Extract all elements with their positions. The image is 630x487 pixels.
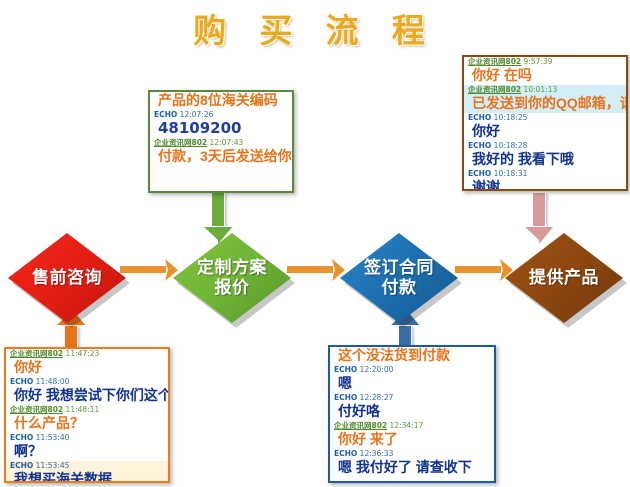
chat-message-sender: ECHO [468, 113, 491, 122]
chat-message: 产品的8位海关编码 [150, 92, 292, 110]
chat-message-sender: ECHO [10, 377, 33, 386]
chat-message-time: 12:07:26 [180, 110, 214, 119]
arrow-down-green-stem [211, 192, 225, 227]
chat-message-text: 已发送到你的QQ邮箱，请查收 [466, 95, 624, 112]
step-sales-consult[interactable]: 售前咨询 [8, 233, 126, 323]
chat-message: 这个没法货到付款 [330, 347, 494, 365]
chat-message-time: 12:34:17 [390, 421, 424, 430]
chat-message-time: 12:36:33 [360, 449, 394, 458]
chat-message-text: 啊？ [8, 443, 166, 460]
chat-box-quote[interactable]: 产品的8位海关编码 ECHO 12:07:26 48109200 企业资讯网80… [148, 90, 294, 193]
chat-message-time: 12:20:00 [360, 365, 394, 374]
chat-message: ECHO 12:28:27 付好咯 [330, 393, 494, 421]
connector-arrow-3-bar [455, 266, 501, 273]
connector-arrow-2 [287, 259, 345, 281]
page-title: 购 买 流 程 [0, 4, 630, 52]
chat-message: ECHO 10:18:28 我好的 我看下哦 [464, 141, 626, 169]
step-deliver-label: 提供产品 [505, 233, 623, 323]
chat-message: 企业资讯网802 12:07:43 付款，3天后发送给你 [150, 138, 292, 166]
step-contract-label-line2: 付款 [364, 278, 434, 298]
chat-message-text: 付款，3天后发送给你 [152, 148, 290, 165]
chat-message-sender: 企业资讯网802 [334, 421, 387, 430]
chat-message: 企业资讯网802 9:57:39 你好 在吗 [464, 57, 626, 85]
chat-message: 企业资讯网802 11:47:23 你好 [6, 349, 168, 377]
chat-message-text: 我好的 我看下哦 [466, 151, 624, 168]
step-quote-label-line2: 报价 [197, 278, 267, 298]
chat-message-time: 11:53:40 [36, 433, 70, 442]
chat-message-sender: ECHO [468, 141, 491, 150]
chat-message-text: 我想买海关数据 [8, 471, 166, 483]
chat-message-time: 11:48:00 [36, 377, 70, 386]
chat-message-sender: ECHO [334, 393, 357, 402]
step-contract-label-line1: 签订合同 [364, 258, 434, 278]
chat-message-meta: ECHO 11:48:00 [8, 377, 166, 387]
chat-message-text: 嗯 [332, 375, 492, 392]
chat-message-sender: ECHO [10, 433, 33, 442]
chat-message-text: 产品的8位海关编码 [152, 92, 290, 109]
chat-message-time: 10:01:13 [524, 85, 558, 94]
chat-message-sender: ECHO [154, 110, 177, 119]
chat-message-text: 你好 我想尝试下你们这个产品 [8, 387, 166, 404]
chat-message-text: 你好 来了 [332, 431, 492, 448]
step-contract-label: 签订合同 付款 [340, 233, 458, 323]
chat-message-time: 11:48:11 [66, 405, 100, 414]
chat-message-text: 付好咯 [332, 403, 492, 420]
chat-message-time: 11:53:45 [36, 461, 70, 470]
chat-message-text: 谢谢 [466, 179, 624, 191]
chat-message-meta: 企业资讯网802 11:48:11 [8, 405, 166, 415]
chat-message-text: 什么产品？ [8, 415, 166, 432]
chat-message-sender: ECHO [334, 365, 357, 374]
chat-message: ECHO 12:20:00 嗯 [330, 365, 494, 393]
step-quote-label-line1: 定制方案 [197, 258, 267, 278]
chat-message-sender: ECHO [468, 169, 491, 178]
chat-message: 企业资讯网802 10:01:13 已发送到你的QQ邮箱，请查收 [464, 85, 626, 113]
chat-message-text: 嗯 我付好了 请查收下 [332, 459, 492, 476]
chat-message-meta: 企业资讯网802 9:57:39 [466, 57, 624, 67]
step-contract-payment[interactable]: 签订合同 付款 [340, 233, 458, 323]
chat-message-meta: ECHO 11:53:40 [8, 433, 166, 443]
step-custom-quote[interactable]: 定制方案 报价 [173, 233, 291, 323]
chat-message-sender: ECHO [334, 449, 357, 458]
chat-message-meta: ECHO 11:53:45 [8, 461, 166, 471]
connector-arrow-1 [120, 259, 178, 281]
chat-box-sales[interactable]: 企业资讯网802 11:47:23 你好 ECHO 11:48:00 你好 我想… [4, 347, 170, 483]
chat-message: ECHO 12:07:26 48109200 [150, 110, 292, 138]
step-sales-label: 售前咨询 [8, 233, 126, 323]
chat-message: ECHO 11:48:00 你好 我想尝试下你们这个产品 [6, 377, 168, 405]
chat-message-time: 10:18:31 [494, 169, 528, 178]
step-provide-product[interactable]: 提供产品 [505, 233, 623, 323]
arrow-down-pink-stem [532, 192, 546, 227]
chat-message-sender: ECHO [10, 461, 33, 470]
chat-message: ECHO 12:36:33 嗯 我付好了 请查收下 [330, 449, 494, 477]
chat-box-deliver[interactable]: 企业资讯网802 9:57:39 你好 在吗 企业资讯网802 10:01:13… [462, 55, 628, 191]
connector-arrow-1-bar [120, 266, 166, 273]
chat-message-sender: 企业资讯网802 [154, 138, 207, 147]
chat-message-sender: 企业资讯网802 [10, 405, 63, 414]
flowchart-canvas: 购 买 流 程 售前咨询 定制方案 [0, 0, 630, 487]
chat-message-time: 10:18:25 [494, 113, 528, 122]
chat-message-meta: 企业资讯网802 12:34:17 [332, 421, 492, 431]
chat-message-text: 48109200 [152, 120, 290, 137]
chat-box-contract[interactable]: 这个没法货到付款 ECHO 12:20:00 嗯 ECHO 12:28:27 付… [328, 345, 496, 483]
chat-message-meta: 企业资讯网802 10:01:13 [466, 85, 624, 95]
chat-message-sender: 企业资讯网802 [468, 57, 521, 66]
chat-message-sender: 企业资讯网802 [468, 85, 521, 94]
connector-arrow-2-bar [287, 266, 333, 273]
chat-message-time: 11:47:23 [66, 349, 100, 358]
chat-message-time: 10:18:28 [494, 141, 528, 150]
chat-message-meta: ECHO 10:18:28 [466, 141, 624, 151]
chat-message-meta: ECHO 10:18:25 [466, 113, 624, 123]
chat-message-text: 你好 [8, 359, 166, 376]
chat-message-meta: 企业资讯网802 12:07:43 [152, 138, 290, 148]
chat-message-meta: ECHO 12:20:00 [332, 365, 492, 375]
chat-message: 企业资讯网802 12:34:17 你好 来了 [330, 421, 494, 449]
chat-message-sender: 企业资讯网802 [10, 349, 63, 358]
chat-message-time: 9:57:39 [524, 57, 553, 66]
chat-message: ECHO 10:18:25 你好 [464, 113, 626, 141]
chat-message: ECHO 10:18:31 谢谢 [464, 169, 626, 191]
chat-message-text: 你好 [466, 123, 624, 140]
chat-message-meta: 企业资讯网802 11:47:23 [8, 349, 166, 359]
chat-message-meta: ECHO 10:18:31 [466, 169, 624, 179]
step-quote-label: 定制方案 报价 [173, 233, 291, 323]
chat-message: ECHO 11:53:40 啊？ [6, 433, 168, 461]
chat-message-time: 12:28:27 [360, 393, 394, 402]
chat-message-meta: ECHO 12:28:27 [332, 393, 492, 403]
chat-message-text: 你好 在吗 [466, 67, 624, 84]
chat-message-time: 12:07:43 [210, 138, 244, 147]
chat-message-meta: ECHO 12:36:33 [332, 449, 492, 459]
chat-message: ECHO 11:53:45 我想买海关数据 [6, 461, 168, 483]
chat-message: 企业资讯网802 11:48:11 什么产品？ [6, 405, 168, 433]
chat-message-text: 这个没法货到付款 [332, 347, 492, 364]
